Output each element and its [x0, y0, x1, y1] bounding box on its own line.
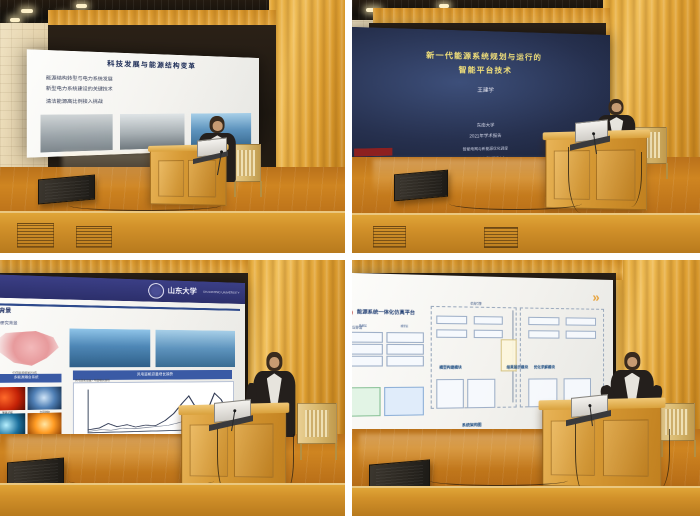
stage-chair	[297, 403, 337, 443]
chair-legs	[300, 443, 337, 461]
stage-apron	[352, 486, 700, 516]
podium-front-panel	[189, 160, 217, 197]
flow-node	[566, 331, 597, 340]
stage-cable	[429, 475, 568, 486]
podium-front-panel	[158, 160, 185, 196]
apron-vent-grill	[373, 226, 406, 249]
presenter-face	[269, 357, 279, 368]
tile-image-fusion	[28, 412, 62, 436]
flow-label: 优化求解模块	[534, 365, 555, 370]
red-seal-icon	[352, 308, 353, 318]
podium-front-panel	[602, 420, 648, 477]
speaker-grill	[13, 462, 57, 485]
presenter-face	[627, 357, 637, 367]
stage-apron	[0, 483, 345, 516]
flow-label: 结果展示模块	[507, 365, 529, 370]
apron-vent-grill	[484, 227, 517, 248]
slide-image-coastal	[40, 114, 112, 153]
flow-node-green	[352, 387, 381, 417]
photo-panel-bottom-right[interactable]: Presenter gesturing beside wide technica…	[352, 260, 700, 516]
presenter-face	[212, 121, 222, 131]
photo-panel-top-right[interactable]: Presenter standing at podium beside dark…	[352, 0, 700, 253]
slide-subsection-label: 1.1 研究背景	[0, 321, 245, 331]
flow-node	[387, 356, 424, 367]
shandong-university-logo-icon	[149, 283, 165, 299]
double-chevron-icon: »	[593, 290, 600, 305]
flow-node	[352, 344, 384, 355]
slide-body-line-1: 能源结构转型与电力系统发展	[26, 74, 258, 85]
chair-legs	[234, 181, 262, 197]
presenter-face	[612, 103, 622, 113]
presenter-head	[267, 352, 282, 371]
china-map-graphic	[0, 330, 62, 369]
flow-node	[468, 380, 495, 409]
speaker-grill	[400, 174, 442, 197]
stage-apron	[352, 213, 700, 253]
presenter-laptop	[575, 120, 608, 143]
flow-node	[529, 317, 561, 326]
wind-farm-photo-onshore	[156, 330, 236, 367]
ceiling-light-icon	[76, 4, 87, 8]
slide-title-line-1: 新一代能源系统规划与运行的	[352, 49, 610, 65]
apron-vent-grill	[76, 226, 113, 248]
presenter-head	[624, 352, 639, 370]
speaker-grill	[376, 464, 423, 488]
tile-caption: 台风测控	[28, 410, 62, 415]
photo-panel-top-left[interactable]: Seated presenter at podium with white sl…	[0, 0, 345, 253]
tile-caption: 等离子体	[0, 410, 25, 415]
flow-node	[437, 380, 465, 409]
wind-farm-photo-offshore	[70, 329, 150, 367]
group-label: 数据层	[352, 323, 381, 328]
university-name-en: SHANDONG UNIVERSITY	[203, 290, 240, 295]
flow-node	[474, 317, 504, 326]
presenter-laptop	[197, 138, 227, 158]
slide-title: 科技发展与能源结构变革	[26, 55, 258, 72]
photo-collage: Seated presenter at podium with white sl…	[0, 0, 700, 519]
flow-node	[474, 330, 504, 339]
flow-node	[437, 330, 468, 339]
stage-apron	[0, 211, 345, 253]
presenter-shirt	[267, 373, 282, 405]
flow-node	[352, 356, 384, 367]
floor-monitor-speaker	[38, 175, 95, 205]
slide-speaker-name: 王建学	[352, 86, 610, 94]
university-name: 山东大学	[168, 286, 197, 297]
presenter-head	[210, 116, 225, 133]
tile-image-typhoon	[28, 386, 62, 409]
flow-node	[437, 316, 468, 325]
photo-panel-bottom-left[interactable]: Presenter standing beside Shandong Unive…	[0, 260, 345, 516]
slide-title-line-2: 智能平台技术	[352, 63, 610, 77]
tile-image-plasma	[0, 387, 25, 411]
apron-vent-grill	[17, 223, 54, 248]
speaker-grill	[44, 179, 88, 200]
flow-node	[529, 330, 561, 339]
bottom-label: 系统架构图	[462, 423, 482, 429]
slide-affiliation-line-1: 东南大学	[352, 121, 610, 131]
flow-node	[387, 344, 424, 355]
flow-node	[352, 332, 384, 343]
slide-body-line-3: 清洁能源高比例接入挑战	[26, 98, 258, 105]
flow-node	[566, 318, 597, 327]
slide-body-line-2: 新型电力系统建设的关键技术	[26, 85, 258, 94]
flow-label: 模型构建模块	[440, 365, 462, 370]
flow-node-blue	[384, 387, 424, 417]
podium-front-panel	[234, 424, 274, 478]
ceiling-light-icon	[21, 9, 33, 13]
flow-node	[387, 332, 424, 343]
presenter-head	[609, 99, 624, 115]
left-block-title: 多能源耦合系统	[0, 375, 62, 380]
floor-monitor-speaker	[394, 170, 448, 202]
